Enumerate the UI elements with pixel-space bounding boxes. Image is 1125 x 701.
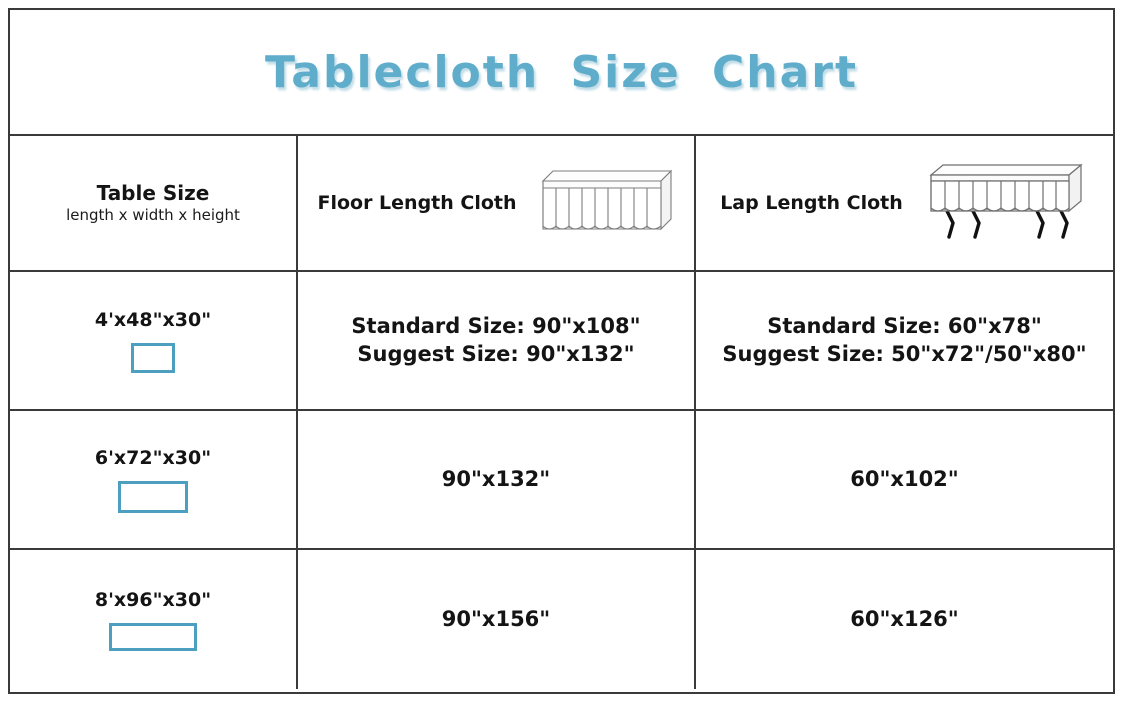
cell-floor-length-size: 90"x132"	[298, 411, 696, 548]
floor-size: 90"x132"	[442, 466, 551, 494]
header-cell-floor-length: Floor Length Cloth	[298, 136, 696, 270]
table-shape-swatch	[118, 481, 188, 513]
title-band: Tablecloth Size Chart	[10, 10, 1113, 136]
floor-length-value: Standard Size: 90"x108" Suggest Size: 90…	[351, 313, 640, 368]
header-cell-table-size: Table Size length x width x height	[10, 136, 298, 270]
table-shape-swatch-wrap	[95, 623, 211, 651]
table-size-group: 6'x72"x30"	[95, 447, 211, 513]
tablecloth-size-chart: Tablecloth Size Chart Table Size length …	[8, 8, 1115, 694]
table-size-value: 8'x96"x30"	[95, 589, 211, 611]
lap-length-value: 60"x126"	[850, 606, 959, 634]
cell-floor-length-size: 90"x156"	[298, 550, 696, 689]
lap-suggest-size: Suggest Size: 50"x72"/50"x80"	[722, 341, 1086, 369]
floor-standard-size: Standard Size: 90"x108"	[351, 313, 640, 341]
lap-size: 60"x102"	[850, 466, 959, 494]
table-header-row: Table Size length x width x height Floor…	[10, 136, 1113, 272]
lap-length-value: Standard Size: 60"x78" Suggest Size: 50"…	[722, 313, 1086, 368]
lap-length-value: 60"x102"	[850, 466, 959, 494]
table-shape-swatch-wrap	[95, 481, 211, 513]
cell-table-size: 6'x72"x30"	[10, 411, 298, 548]
table-size-heading-group: Table Size length x width x height	[66, 181, 240, 226]
floor-length-tablecloth-icon	[523, 163, 675, 243]
floor-length-value: 90"x156"	[442, 606, 551, 634]
cell-lap-length-size: 60"x126"	[696, 550, 1113, 689]
table-row: 6'x72"x30" 90"x132" 60"x102"	[10, 411, 1113, 550]
table-shape-swatch	[131, 343, 175, 373]
lap-size: 60"x126"	[850, 606, 959, 634]
table-row: 8'x96"x30" 90"x156" 60"x126"	[10, 550, 1113, 689]
floor-heading-group: Floor Length Cloth	[304, 163, 688, 243]
table-shape-swatch-wrap	[95, 343, 211, 373]
table-size-value: 6'x72"x30"	[95, 447, 211, 469]
cell-table-size: 4'x48"x30"	[10, 272, 298, 409]
table-size-value: 4'x48"x30"	[95, 309, 211, 331]
floor-suggest-size: Suggest Size: 90"x132"	[351, 341, 640, 369]
cell-lap-length-size: Standard Size: 60"x78" Suggest Size: 50"…	[696, 272, 1113, 409]
cell-floor-length-size: Standard Size: 90"x108" Suggest Size: 90…	[298, 272, 696, 409]
column-heading-lap-length: Lap Length Cloth	[720, 192, 903, 214]
floor-size: 90"x156"	[442, 606, 551, 634]
floor-length-value: 90"x132"	[442, 466, 551, 494]
cell-lap-length-size: 60"x102"	[696, 411, 1113, 548]
table-size-group: 4'x48"x30"	[95, 309, 211, 373]
column-subheading-dimensions: length x width x height	[66, 206, 240, 225]
lap-heading-group: Lap Length Cloth	[702, 157, 1107, 249]
lap-length-tablecloth-icon	[909, 157, 1089, 249]
table-row: 4'x48"x30" Standard Size: 90"x108" Sugge…	[10, 272, 1113, 411]
column-heading-floor-length: Floor Length Cloth	[317, 192, 516, 214]
column-heading-table-size: Table Size	[66, 181, 240, 207]
page-title: Tablecloth Size Chart	[265, 47, 858, 98]
lap-standard-size: Standard Size: 60"x78"	[722, 313, 1086, 341]
table-shape-swatch	[109, 623, 197, 651]
table-size-group: 8'x96"x30"	[95, 589, 211, 651]
cell-table-size: 8'x96"x30"	[10, 550, 298, 689]
header-cell-lap-length: Lap Length Cloth	[696, 136, 1113, 270]
